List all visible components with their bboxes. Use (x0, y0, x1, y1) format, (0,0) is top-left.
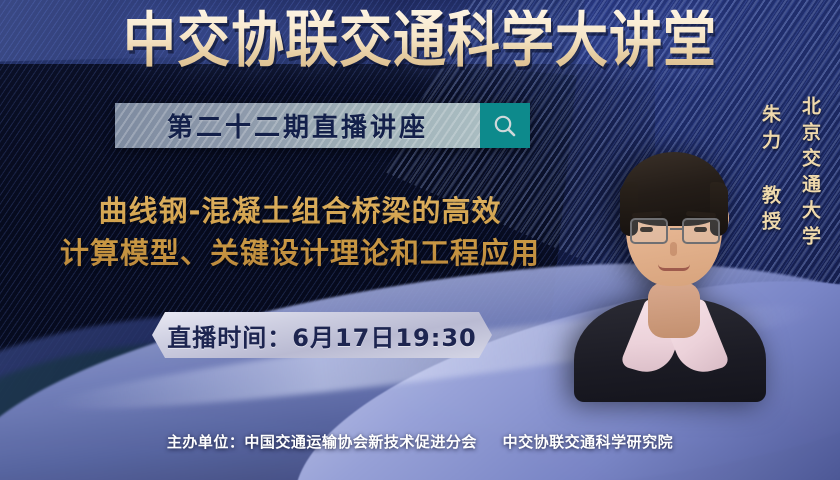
portrait-glasses-bridge (670, 228, 682, 230)
search-icon-box[interactable] (480, 103, 530, 148)
portrait-neck (648, 282, 700, 338)
lecture-title: 曲线钢-混凝土组合桥梁的高效 计算模型、关键设计理论和工程应用 (0, 190, 600, 275)
footer: 主办单位：中国交通运输协会新技术促进分会 中交协联交通科学研究院 (0, 431, 840, 452)
main-title-wrap: 中交协联交通科学大讲堂 (0, 14, 840, 68)
portrait-mouth (658, 264, 690, 271)
lecture-poster: 中交协联交通科学大讲堂 第二十二期直播讲座 曲线钢-混凝土组合桥梁的高效 计算模… (0, 0, 840, 480)
speaker-affiliation: 北京交通大学 (797, 96, 824, 252)
episode-label: 第二十二期直播讲座 (167, 107, 428, 144)
main-title: 中交协联交通科学大讲堂 (123, 10, 717, 73)
lecture-title-line-1: 曲线钢-混凝土组合桥梁的高效 (0, 190, 600, 232)
episode-bar: 第二十二期直播讲座 (115, 103, 530, 148)
portrait-glasses (628, 218, 722, 244)
footer-co-organizer: 中交协联交通科学研究院 (503, 433, 674, 451)
portrait-nose (670, 242, 677, 256)
broadcast-time-badge: 直播时间：6月17日19:30 (152, 312, 492, 358)
portrait-lens-left (630, 218, 668, 244)
speaker-portrait (580, 130, 760, 402)
search-icon (492, 113, 518, 139)
portrait-lens-right (682, 218, 720, 244)
episode-bar-text-area: 第二十二期直播讲座 (115, 103, 480, 148)
broadcast-time-label: 直播时间：6月17日19:30 (167, 318, 477, 353)
speaker-name-title: 朱力 教授 (757, 104, 784, 237)
lecture-title-line-2: 计算模型、关键设计理论和工程应用 (0, 232, 600, 274)
footer-organizer: 主办单位：中国交通运输协会新技术促进分会 (167, 433, 477, 451)
